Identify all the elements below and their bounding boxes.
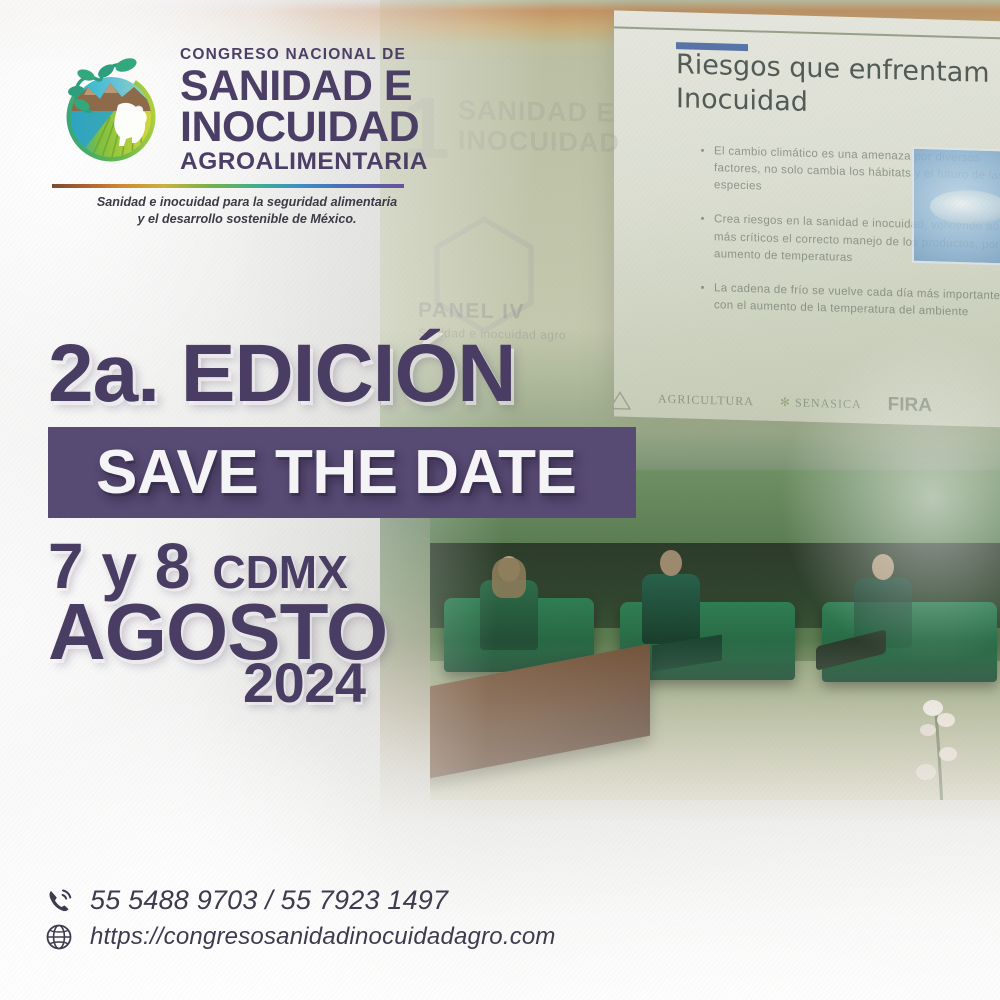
- contact-phone: 55 5488 9703 / 55 7923 1497: [90, 885, 448, 916]
- contact-website: https://congresosanidadinocuidadagro.com: [90, 923, 556, 951]
- logo-line3: AGROALIMENTARIA: [180, 149, 428, 176]
- contact-website-row[interactable]: https://congresosanidadinocuidadagro.com: [44, 922, 556, 952]
- logo-line2: INOCUIDAD: [180, 107, 428, 148]
- phone-icon: [44, 886, 74, 916]
- congress-logo: CONGRESO NACIONAL DE SANIDAD E INOCUIDAD…: [48, 40, 438, 228]
- globe-icon: [44, 922, 74, 952]
- logo-tagline: Sanidad e inocuidad para la seguridad al…: [92, 194, 402, 229]
- save-the-date-poster: Riesgos que enfrentam Inocuidad El cambi…: [0, 0, 1000, 1000]
- contact-block: 55 5488 9703 / 55 7923 1497 https://cong…: [44, 885, 556, 958]
- event-year: 2024: [243, 655, 366, 711]
- logo-line1: SANIDAD E: [180, 66, 428, 107]
- save-the-date-band: SAVE THE DATE: [48, 427, 636, 518]
- save-the-date-text: SAVE THE DATE: [48, 442, 636, 504]
- poster-foreground: CONGRESO NACIONAL DE SANIDAD E INOCUIDAD…: [0, 0, 1000, 1000]
- contact-phone-row[interactable]: 55 5488 9703 / 55 7923 1497: [44, 885, 556, 916]
- rainbow-divider: [52, 184, 404, 188]
- agriculture-emblem-icon: [48, 47, 170, 169]
- edition-headline: 2a. EDICIÓN: [48, 333, 515, 415]
